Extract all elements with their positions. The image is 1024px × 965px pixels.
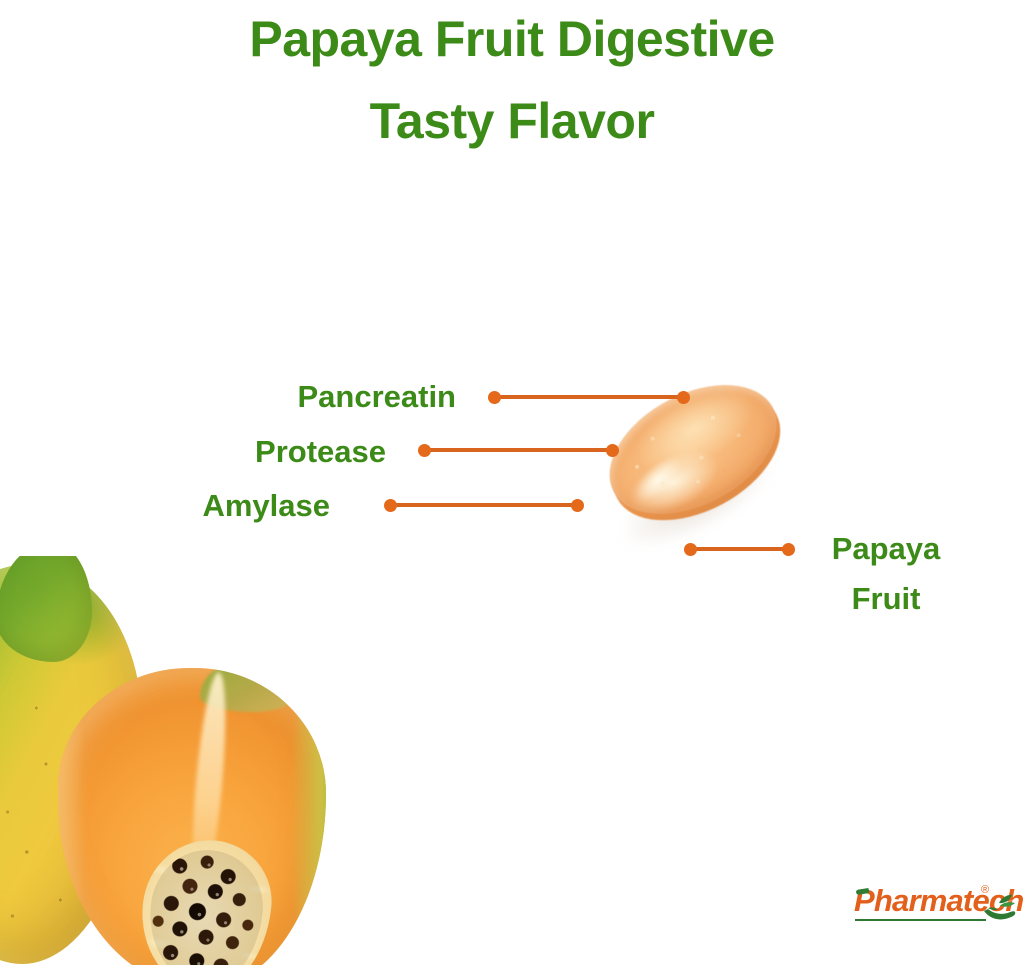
callout-label-protease: Protease <box>116 435 386 469</box>
callout-label-amylase: Amylase <box>60 489 330 523</box>
leader-dot-start-papaya-fruit <box>684 543 697 556</box>
tablet-image <box>600 382 800 548</box>
leader-dot-end-pancreatin <box>677 391 690 404</box>
page-title: Papaya Fruit Digestive Tasty Flavor <box>0 0 1024 162</box>
page-title-line-2: Tasty Flavor <box>0 80 1024 162</box>
leader-dot-end-protease <box>606 444 619 457</box>
leader-dot-start-pancreatin <box>488 391 501 404</box>
papaya-seed-cavity <box>134 834 277 965</box>
papaya-halved-fruit <box>58 668 326 965</box>
leader-line-papaya-fruit <box>690 547 789 551</box>
hand-holding-leaves-icon <box>980 892 1018 926</box>
callout-label-papaya-fruit-line-2: Fruit <box>806 582 966 616</box>
product-infographic: Papaya Fruit Digestive Tasty Flavor <box>0 0 1024 965</box>
leader-dot-end-amylase <box>571 499 584 512</box>
logo-underline-rule <box>855 919 986 921</box>
pharmatech-logo: Pharmatech ® <box>848 884 1024 944</box>
callout-label-pancreatin: Pancreatin <box>186 380 456 414</box>
leader-dot-end-papaya-fruit <box>782 543 795 556</box>
papaya-halved-rim-right <box>290 678 326 948</box>
callout-label-papaya-fruit-line-1: Papaya <box>806 532 966 566</box>
page-title-line-1: Papaya Fruit Digestive <box>0 0 1024 80</box>
leader-line-pancreatin <box>494 395 684 399</box>
leader-line-protease <box>424 448 613 452</box>
leader-dot-start-amylase <box>384 499 397 512</box>
leader-line-amylase <box>390 503 578 507</box>
leader-dot-start-protease <box>418 444 431 457</box>
papaya-fruit-image <box>0 556 400 965</box>
callout-label-papaya-fruit: Papaya Fruit <box>806 532 966 600</box>
